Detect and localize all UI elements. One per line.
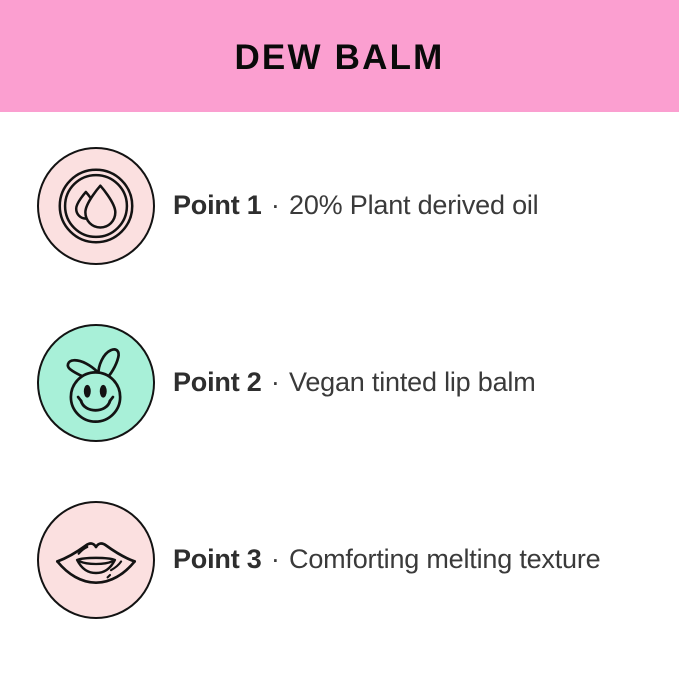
feature-separator-3: · (269, 544, 282, 574)
feature-body-3: Comforting melting texture (289, 544, 600, 574)
header-band: DEW BALM (0, 0, 679, 112)
feature-text-3: Point 3 · Comforting melting texture (173, 544, 679, 575)
water-droplet-icon (39, 149, 153, 263)
feature-body-1: 20% Plant derived oil (289, 190, 538, 220)
page-title: DEW BALM (234, 40, 444, 75)
feature-text-2: Point 2 · Vegan tinted lip balm (173, 367, 679, 398)
list-item: Point 1 · 20% Plant derived oil (0, 146, 679, 266)
feature-lead-2: Point 2 (173, 367, 262, 397)
feature-lead-1: Point 1 (173, 190, 262, 220)
feature-separator-2: · (269, 367, 282, 397)
feature-icon-badge-2 (37, 324, 155, 442)
list-item: Point 2 · Vegan tinted lip balm (0, 323, 679, 443)
bunny-smiley-icon (39, 326, 153, 440)
feature-list: Point 1 · 20% Plant derived oil (0, 112, 679, 679)
list-item: Point 3 · Comforting melting texture (0, 500, 679, 620)
lips-icon (39, 503, 153, 617)
product-feature-panel: DEW BALM Point 1 · 20% Plant derived oil (0, 0, 679, 679)
feature-icon-badge-3 (37, 501, 155, 619)
feature-text-1: Point 1 · 20% Plant derived oil (173, 190, 679, 221)
feature-icon-badge-1 (37, 147, 155, 265)
feature-lead-3: Point 3 (173, 544, 262, 574)
feature-separator-1: · (269, 190, 282, 220)
feature-body-2: Vegan tinted lip balm (289, 367, 535, 397)
